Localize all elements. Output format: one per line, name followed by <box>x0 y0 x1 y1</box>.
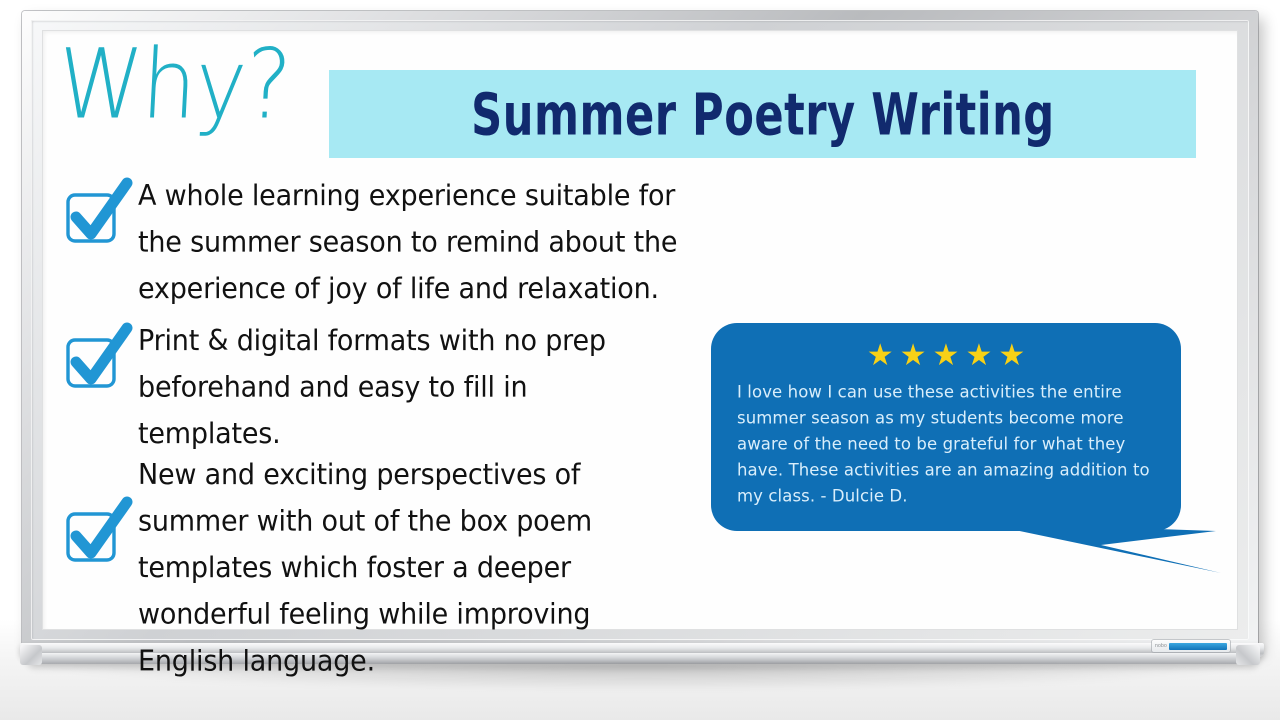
slide-stage: nobo Why? Summer Poetry Writing A whole … <box>0 0 1280 720</box>
checkbox-checked-icon <box>64 504 130 566</box>
list-item: Print & digital formats with no prep bef… <box>64 318 704 450</box>
star-icon: ★ <box>933 341 960 371</box>
checkbox-checked-icon <box>64 185 130 247</box>
sticker-brand-mark: nobo <box>1155 644 1167 649</box>
page-title: Summer Poetry Writing <box>471 85 1055 143</box>
slide-content: Why? Summer Poetry Writing A whole learn… <box>42 30 1238 630</box>
list-item-text: New and exciting perspectives of summer … <box>138 452 668 685</box>
checkbox-checked-icon <box>64 330 130 392</box>
star-icon: ★ <box>965 341 992 371</box>
testimonial-callout: ★ ★ ★ ★ ★ I love how I can use these act… <box>711 323 1181 533</box>
benefits-list: A whole learning experience suitable for… <box>64 173 704 672</box>
list-item: A whole learning experience suitable for… <box>64 173 704 305</box>
star-rating: ★ ★ ★ ★ ★ <box>737 341 1155 371</box>
title-banner: Summer Poetry Writing <box>329 70 1196 158</box>
pen-tray-end-cap-left <box>20 645 42 665</box>
star-icon: ★ <box>900 341 927 371</box>
manufacturer-sticker: nobo <box>1152 640 1230 652</box>
speech-bubble-body: ★ ★ ★ ★ ★ I love how I can use these act… <box>711 323 1181 531</box>
list-item-text: A whole learning experience suitable for… <box>138 173 704 313</box>
list-item-text: Print & digital formats with no prep bef… <box>138 318 668 458</box>
star-icon: ★ <box>998 341 1025 371</box>
pen-tray-end-cap-right <box>1236 645 1260 665</box>
why-heading: Why? <box>55 37 292 133</box>
sticker-color-chip <box>1169 643 1227 650</box>
list-item: New and exciting perspectives of summer … <box>64 452 704 672</box>
star-icon: ★ <box>867 341 894 371</box>
headline-row: Why? Summer Poetry Writing <box>42 46 1238 158</box>
testimonial-quote: I love how I can use these activities th… <box>737 379 1155 509</box>
